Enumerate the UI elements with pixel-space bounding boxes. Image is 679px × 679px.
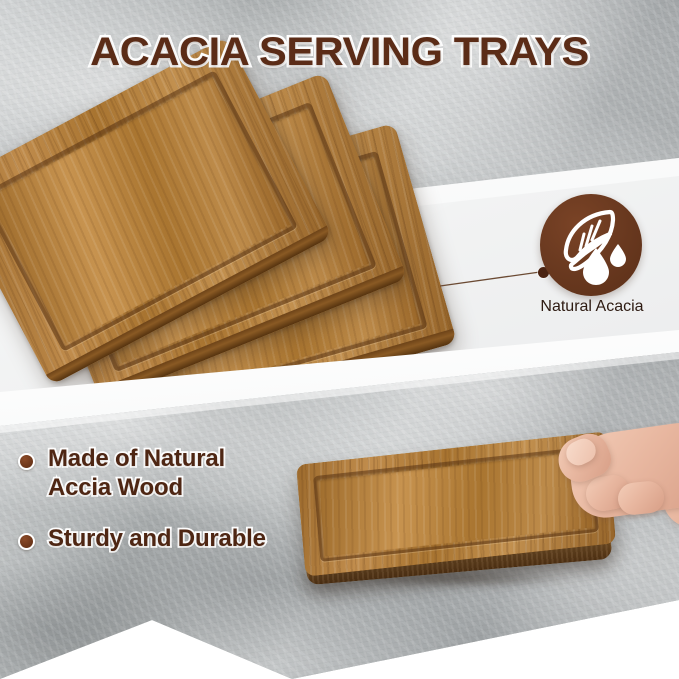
hand-holding-tray-group: [300, 448, 640, 608]
page-title: ACACIA SERVING TRAYS: [0, 30, 679, 74]
feature-text: Made of Natural Accia Wood: [48, 444, 225, 502]
feature-list: Made of Natural Accia Wood Sturdy and Du…: [18, 444, 348, 575]
leaf-water-drop-icon: [540, 194, 642, 296]
feature-line: Accia Wood: [48, 473, 225, 502]
hand-illustration: [522, 420, 679, 570]
feature-line: Sturdy and Durable: [48, 524, 266, 553]
callout-line-icon: [440, 270, 544, 290]
hand-finger: [616, 480, 665, 517]
natural-acacia-badge: [540, 194, 642, 296]
list-item: Sturdy and Durable: [18, 524, 348, 553]
badge-label: Natural Acacia: [497, 298, 679, 316]
bullet-dot-icon: [18, 453, 35, 470]
bullet-dot-icon: [18, 533, 35, 550]
feature-text: Sturdy and Durable: [48, 524, 266, 553]
feature-line: Made of Natural: [48, 444, 225, 473]
list-item: Made of Natural Accia Wood: [18, 444, 348, 502]
product-infographic: ACACIA SERVING TRAYS Natural Acacia Made…: [0, 0, 679, 679]
